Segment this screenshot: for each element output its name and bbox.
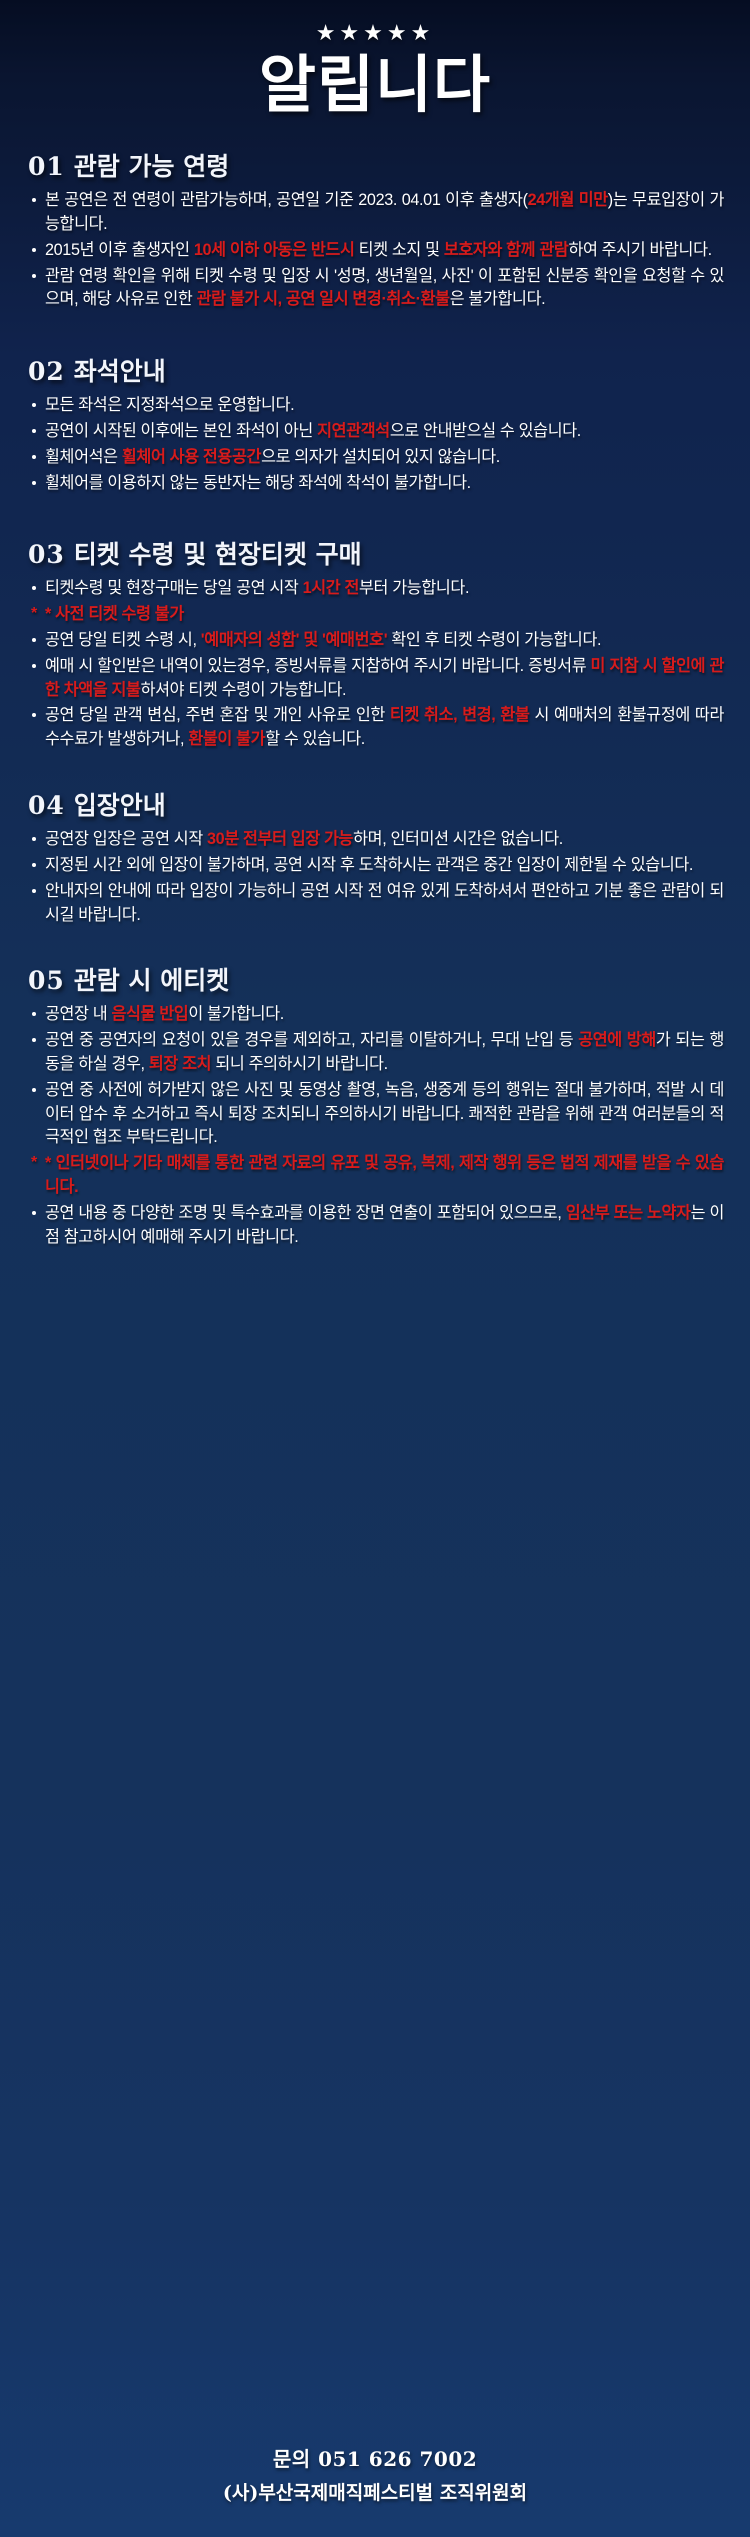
list-item: 2015년 이후 출생자인 10세 이하 아동은 반드시 티켓 소지 및 보호자… [30,239,724,263]
body-text: 하며, 인터미션 시간은 없습니다. [353,830,563,848]
list-item: 공연 당일 티켓 수령 시, '예매자의 성함' 및 '예매번호' 확인 후 티… [30,629,724,653]
highlight-text: 10세 이하 아동은 반드시 [194,241,355,259]
notice-page: { "header": { "stars": "★★★★★", "title":… [0,0,750,2537]
highlight-text: 지연관객석 [317,422,390,440]
highlight-text: 24개월 미만 [528,191,608,209]
body-text: 휠체어석은 [45,448,122,466]
list-item: 공연 당일 관객 변심, 주변 혼잡 및 개인 사유로 인한 티켓 취소, 변경… [30,704,724,752]
star-rating-icon: ★★★★★ [0,22,750,44]
highlight-text: 30분 전부터 입장 가능 [207,830,353,848]
section-title: 관람 가능 연령 [74,147,229,183]
body-text: 할 수 있습니다. [265,730,365,748]
list-item: 휠체어를 이용하지 않는 동반자는 해당 좌석에 착석이 불가합니다. [30,472,724,496]
body-text: 공연 당일 티켓 수령 시, [45,631,201,649]
body-text: 공연장 입장은 공연 시작 [45,830,207,848]
highlight-text: 관람 불가 시, 공연 일시 변경·취소·환불 [197,290,450,308]
section-title: 좌석안내 [74,352,166,388]
section-divider [26,929,724,957]
section-heading: 05관람 시 에티켓 [28,961,724,997]
highlight-text: 임산부 또는 노약자 [566,1204,691,1222]
highlight-text: 퇴장 조치 [149,1055,211,1073]
notice-section-03: 03티켓 수령 및 현장티켓 구매티켓수령 및 현장구매는 당일 공연 시작 1… [26,535,724,782]
section-divider [26,497,724,531]
body-text: 모든 좌석은 지정좌석으로 운영합니다. [45,396,294,414]
body-text: 안내자의 안내에 따라 입장이 가능하니 공연 시작 전 여유 있게 도착하셔서… [45,882,724,924]
section-number: 01 [28,152,65,181]
body-text: 으로 안내받으실 수 있습니다. [390,422,581,440]
section-number: 05 [28,966,65,995]
page-title: 알립니다 [0,52,750,117]
list-item: 예매 시 할인받은 내역이 있는경우, 증빙서류를 지참하여 주시기 바랍니다.… [30,655,724,703]
section-bullet-list: 티켓수령 및 현장구매는 당일 공연 시작 1시간 전부터 가능합니다.* 사전… [30,577,724,752]
notice-sections: 01관람 가능 연령본 공연은 전 연령이 관람가능하며, 공연일 기준 202… [0,117,750,1279]
list-item: 공연장 입장은 공연 시작 30분 전부터 입장 가능하며, 인터미션 시간은 … [30,828,724,852]
notice-section-05: 05관람 시 에티켓공연장 내 음식물 반입이 불가합니다.공연 중 공연자의 … [26,961,724,1279]
list-item: 안내자의 안내에 따라 입장이 가능하니 공연 시작 전 여유 있게 도착하셔서… [30,880,724,928]
body-text: 티켓 소지 및 [355,241,444,259]
body-text: 지정된 시간 외에 입장이 불가하며, 공연 시작 후 도착하시는 관객은 중간… [45,856,693,874]
body-text: 공연 중 사전에 허가받지 않은 사진 및 동영상 촬영, 녹음, 생중계 등의… [45,1081,724,1147]
list-item: * 인터넷이나 기타 매체를 통한 관련 자료의 유포 및 공유, 복제, 제작… [30,1152,724,1200]
list-item: 공연 중 사전에 허가받지 않은 사진 및 동영상 촬영, 녹음, 생중계 등의… [30,1079,724,1150]
body-text: 확인 후 티켓 수령이 가능합니다. [387,631,601,649]
list-item: 공연 내용 중 다양한 조명 및 특수효과를 이용한 장면 연출이 포함되어 있… [30,1202,724,1250]
body-text: 부터 가능합니다. [359,579,469,597]
body-text: 2015년 이후 출생자인 [45,241,194,259]
body-text: 공연장 내 [45,1005,111,1023]
section-heading: 01관람 가능 연령 [28,147,724,183]
body-text: 본 공연은 전 연령이 관람가능하며, 공연일 기준 2023. 04.01 이… [45,191,528,209]
list-item: 공연장 내 음식물 반입이 불가합니다. [30,1003,724,1027]
highlight-text: * 사전 티켓 수령 불가 [45,605,184,623]
section-divider [26,314,724,348]
highlight-text: 티켓 취소, 변경, 환불 [390,706,530,724]
notice-section-04: 04입장안내공연장 입장은 공연 시작 30분 전부터 입장 가능하며, 인터미… [26,786,724,957]
list-item: 공연 중 공연자의 요청이 있을 경우를 제외하고, 자리를 이탈하거나, 무대… [30,1029,724,1077]
body-text: 되니 주의하시기 바랍니다. [211,1055,388,1073]
footer-contact: 문의 051 626 7002 [0,2443,750,2472]
list-item: 지정된 시간 외에 입장이 불가하며, 공연 시작 후 도착하시는 관객은 중간… [30,854,724,878]
section-bullet-list: 본 공연은 전 연령이 관람가능하며, 공연일 기준 2023. 04.01 이… [30,189,724,312]
section-heading: 02좌석안내 [28,352,724,388]
body-text: 은 불가합니다. [450,290,546,308]
section-bullet-list: 모든 좌석은 지정좌석으로 운영합니다.공연이 시작된 이후에는 본인 좌석이 … [30,394,724,495]
section-title: 관람 시 에티켓 [74,961,229,997]
section-divider [26,1251,724,1279]
section-bullet-list: 공연장 입장은 공연 시작 30분 전부터 입장 가능하며, 인터미션 시간은 … [30,828,724,927]
body-text: 공연 내용 중 다양한 조명 및 특수효과를 이용한 장면 연출이 포함되어 있… [45,1204,566,1222]
body-text: 휠체어를 이용하지 않는 동반자는 해당 좌석에 착석이 불가합니다. [45,474,471,492]
highlight-text: * 인터넷이나 기타 매체를 통한 관련 자료의 유포 및 공유, 복제, 제작… [45,1154,724,1196]
section-title: 입장안내 [74,786,166,822]
highlight-text: 음식물 반입 [111,1005,188,1023]
body-text: 하셔야 티켓 수령이 가능합니다. [141,681,347,699]
highlight-text: '예매자의 성함' 및 '예매번호' [201,631,387,649]
list-item: 본 공연은 전 연령이 관람가능하며, 공연일 기준 2023. 04.01 이… [30,189,724,237]
section-divider [26,754,724,782]
body-text: 이 불가합니다. [188,1005,284,1023]
section-number: 03 [28,540,65,569]
body-text: 하여 주시기 바랍니다. [568,241,711,259]
list-item: 공연이 시작된 이후에는 본인 좌석이 아닌 지연관객석으로 안내받으실 수 있… [30,420,724,444]
body-text: 공연 중 공연자의 요청이 있을 경우를 제외하고, 자리를 이탈하거나, 무대… [45,1031,578,1049]
notice-section-01: 01관람 가능 연령본 공연은 전 연령이 관람가능하며, 공연일 기준 202… [26,147,724,348]
list-item: * 사전 티켓 수령 불가 [30,603,724,627]
section-number: 02 [28,357,65,386]
body-text: 공연이 시작된 이후에는 본인 좌석이 아닌 [45,422,317,440]
footer-organizer: (사)부산국제매직페스티벌 조직위원회 [0,2478,750,2505]
body-text: 공연 당일 관객 변심, 주변 혼잡 및 개인 사유로 인한 [45,706,390,724]
highlight-text: 1시간 전 [303,579,359,597]
list-item: 관람 연령 확인을 위해 티켓 수령 및 입장 시 '성명, 생년월일, 사진'… [30,265,724,313]
section-number: 04 [28,791,65,820]
highlight-text: 보호자와 함께 관람 [444,241,569,259]
highlight-text: 휠체어 사용 전용공간 [122,448,261,466]
footer: 문의 051 626 7002 (사)부산국제매직페스티벌 조직위원회 [0,2443,750,2505]
notice-section-02: 02좌석안내모든 좌석은 지정좌석으로 운영합니다.공연이 시작된 이후에는 본… [26,352,724,531]
section-heading: 04입장안내 [28,786,724,822]
section-title: 티켓 수령 및 현장티켓 구매 [74,535,362,571]
section-heading: 03티켓 수령 및 현장티켓 구매 [28,535,724,571]
list-item: 모든 좌석은 지정좌석으로 운영합니다. [30,394,724,418]
list-item: 티켓수령 및 현장구매는 당일 공연 시작 1시간 전부터 가능합니다. [30,577,724,601]
body-text: 예매 시 할인받은 내역이 있는경우, 증빙서류를 지참하여 주시기 바랍니다.… [45,657,591,675]
hero-header: ★★★★★ 알립니다 [0,0,750,117]
highlight-text: 환불이 불가 [188,730,265,748]
list-item: 휠체어석은 휠체어 사용 전용공간으로 의자가 설치되어 있지 않습니다. [30,446,724,470]
section-bullet-list: 공연장 내 음식물 반입이 불가합니다.공연 중 공연자의 요청이 있을 경우를… [30,1003,724,1249]
body-text: 으로 의자가 설치되어 있지 않습니다. [261,448,500,466]
highlight-text: 공연에 방해 [578,1031,656,1049]
body-text: 티켓수령 및 현장구매는 당일 공연 시작 [45,579,303,597]
